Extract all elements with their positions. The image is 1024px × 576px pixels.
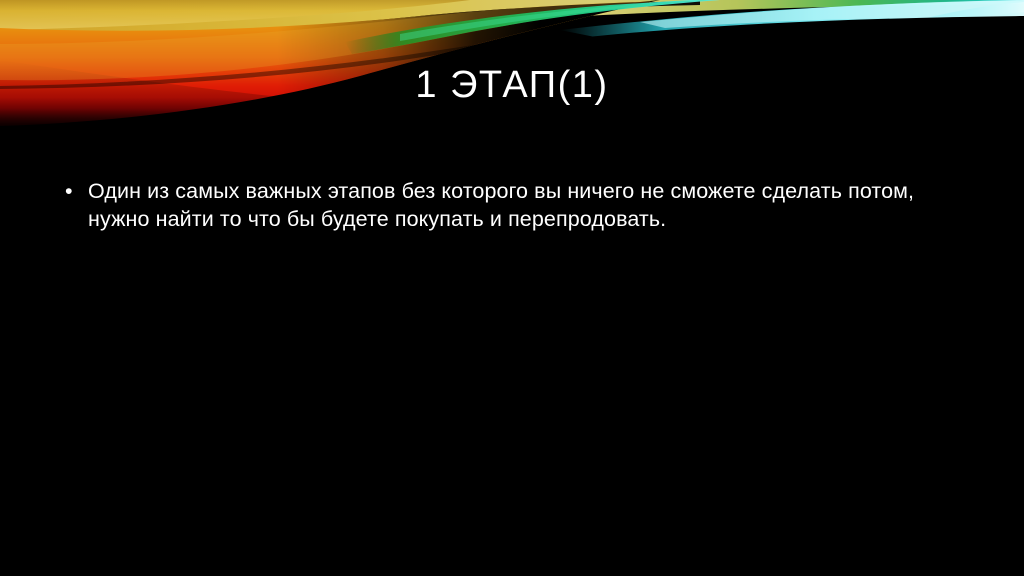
title-block: 1 ЭТАП(1): [0, 66, 1024, 106]
body-content: • Один из самых важных этапов без которо…: [60, 178, 970, 234]
bullet-list: • Один из самых важных этапов без которо…: [60, 178, 970, 234]
slide: 1 ЭТАП(1) • Один из самых важных этапов …: [0, 0, 1024, 576]
bullet-point-icon: •: [65, 178, 79, 206]
list-item: • Один из самых важных этапов без которо…: [60, 178, 970, 234]
page-title: 1 ЭТАП(1): [415, 66, 608, 106]
list-item-text: Один из самых важных этапов без которого…: [88, 179, 914, 231]
